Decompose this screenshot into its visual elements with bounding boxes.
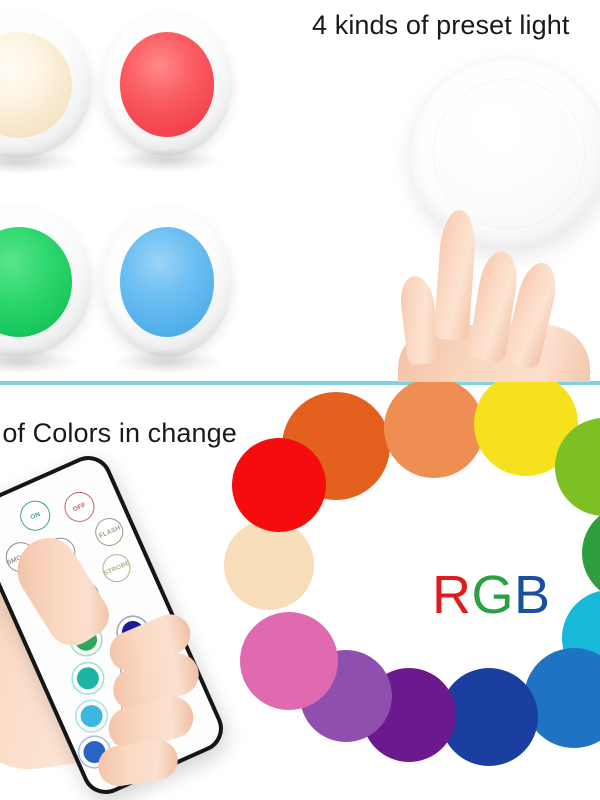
remote-color-button-left-2[interactable] xyxy=(68,659,108,699)
remote-color-swatch xyxy=(73,664,102,693)
remote-button-strobe[interactable]: STROBE xyxy=(98,550,135,587)
remote-color-button-left-3[interactable] xyxy=(72,696,112,736)
led-puck-warm-white xyxy=(0,12,92,158)
puck-lens-red xyxy=(120,32,215,136)
color-ring-swatch xyxy=(582,505,600,601)
remote-button-off[interactable]: OFF xyxy=(60,487,100,527)
remote-button-label: FLASH xyxy=(98,524,121,539)
color-ring-swatch xyxy=(384,378,484,478)
led-puck-green xyxy=(0,207,92,357)
puck-shadow xyxy=(112,350,221,374)
heading-preset-light: 4 kinds of preset light xyxy=(312,12,569,39)
led-puck-blue xyxy=(102,207,232,357)
remote-button-label: OFF xyxy=(72,501,87,513)
puck-shadow xyxy=(0,151,80,174)
color-ring-swatch xyxy=(240,612,338,710)
color-ring-swatch xyxy=(524,648,600,748)
heading-colors-in-change: ds of Colors in change xyxy=(0,420,237,447)
remote-in-hand-scene: ONOFFSMOOTHFADEFLASHSTROBEW xyxy=(0,455,250,800)
remote-color-swatch xyxy=(77,702,106,731)
remote-button-label: ON xyxy=(29,511,41,521)
puck-shadow xyxy=(0,350,80,374)
puck-lens-blue xyxy=(120,227,215,337)
led-puck-red xyxy=(102,13,232,156)
touch-light-glow xyxy=(450,90,564,193)
panel-preset-light: 4 kinds of preset light xyxy=(0,0,600,382)
rgb-letter-b: B xyxy=(514,565,551,625)
puck-shadow xyxy=(112,149,221,172)
hand-pressing-light xyxy=(398,215,600,382)
remote-button-flash[interactable]: FLASH xyxy=(91,514,128,551)
index-finger xyxy=(434,209,478,341)
product-infographic: 4 kinds of preset light xyxy=(0,0,600,800)
rgb-wordmark: RGB xyxy=(432,568,551,622)
rgb-letter-r: R xyxy=(432,565,472,625)
remote-button-on[interactable]: ON xyxy=(15,496,55,536)
remote-button-label: STROBE xyxy=(102,559,130,577)
rgb-letter-g: G xyxy=(472,565,515,625)
